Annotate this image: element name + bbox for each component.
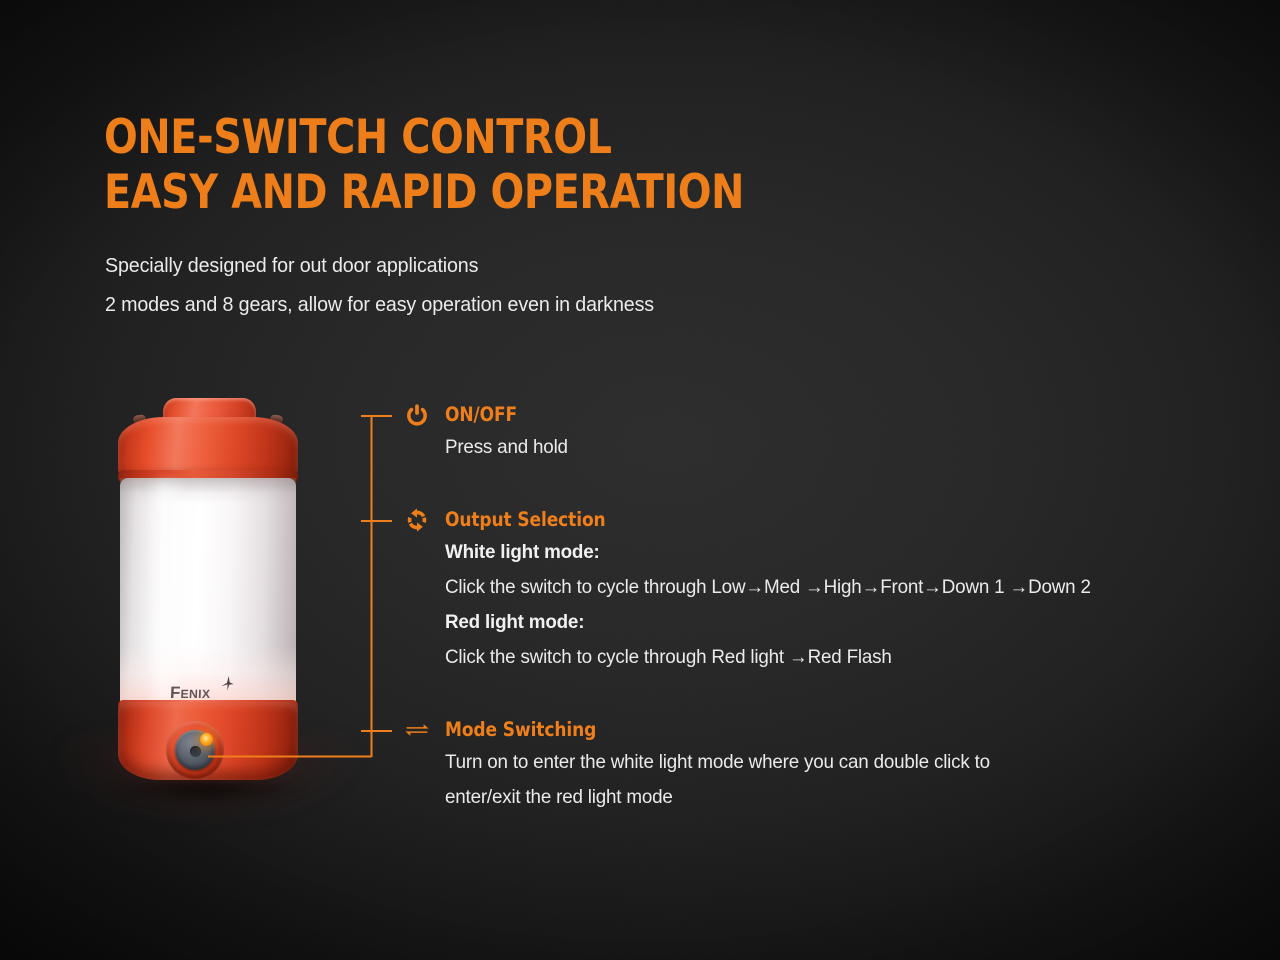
feature-line: enter/exit the red light mode	[445, 786, 673, 809]
power-icon	[404, 402, 430, 428]
feature-title: Mode Switching	[445, 717, 596, 742]
feature-line: Turn on to enter the white light mode wh…	[445, 751, 990, 774]
feature-title: ON/OFF	[445, 402, 517, 427]
feature-line-red-mode-detail: Click the switch to cycle through Red li…	[445, 646, 892, 669]
feature-line-white-mode-label: White light mode:	[445, 541, 600, 564]
infographic-slide: ONE-SWITCH CONTROL EASY AND RAPID OPERAT…	[0, 0, 1280, 960]
callout-connector-lines	[0, 0, 1280, 960]
feature-line: Press and hold	[445, 436, 568, 459]
cycle-refresh-icon	[404, 507, 430, 533]
feature-line-red-mode-label: Red light mode:	[445, 611, 584, 634]
feature-title: Output Selection	[445, 507, 606, 532]
two-way-arrows-icon	[404, 717, 430, 743]
feature-line-white-mode-detail: Click the switch to cycle through Low→Me…	[445, 576, 1091, 599]
